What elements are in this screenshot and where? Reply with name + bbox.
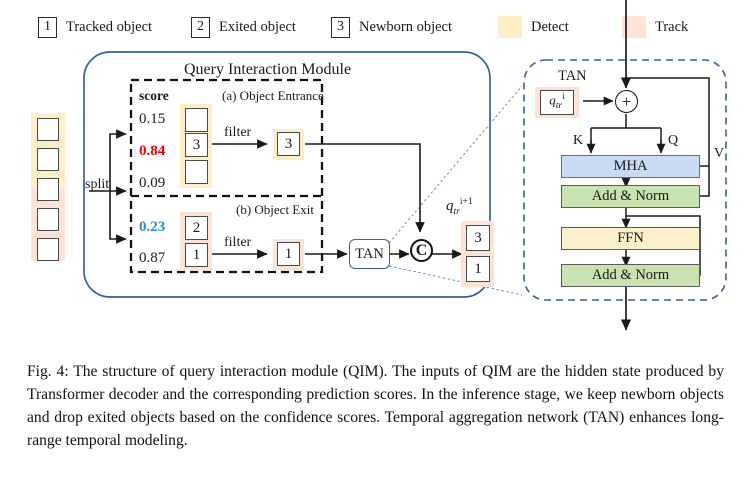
exit-score-0: 0.23 bbox=[139, 220, 165, 235]
entrance-score-1: 0.84 bbox=[139, 144, 165, 159]
input-query-box[interactable] bbox=[37, 208, 59, 231]
output-query-sup: i+1 bbox=[460, 197, 473, 207]
query-port-label: Q bbox=[668, 134, 678, 148]
entrance-score-0: 0.15 bbox=[139, 112, 165, 127]
split-label: split bbox=[85, 178, 109, 192]
qim-title: Query Interaction Module bbox=[184, 62, 351, 78]
entrance-query-box-1[interactable]: 3 bbox=[185, 133, 208, 157]
input-query-box[interactable] bbox=[37, 238, 59, 261]
tan-query-input-box[interactable]: qtri bbox=[540, 90, 574, 115]
entrance-query-box-0[interactable] bbox=[185, 108, 208, 132]
exit-query-box-1[interactable]: 1 bbox=[185, 243, 208, 267]
output-query-sub: tr bbox=[454, 207, 460, 217]
input-query-box[interactable] bbox=[37, 148, 59, 171]
tan-query-sup: i bbox=[562, 92, 565, 102]
split-arrow-down bbox=[110, 191, 126, 239]
figure-caption: Fig. 4: The structure of query interacti… bbox=[27, 361, 724, 453]
exit-query-box-0[interactable]: 2 bbox=[185, 216, 208, 240]
entrance-section-title: (a) Object Entrance bbox=[222, 89, 324, 102]
concat-circle: C bbox=[410, 239, 433, 262]
exit-output-box[interactable]: 1 bbox=[277, 242, 300, 266]
entrance-filter-label: filter bbox=[224, 126, 251, 140]
entrance-query-box-2[interactable] bbox=[185, 160, 208, 184]
exit-score-1: 0.87 bbox=[139, 251, 165, 266]
tan-query-sub: tr bbox=[556, 101, 562, 111]
entrance-score-2: 0.09 bbox=[139, 176, 165, 191]
mha-block[interactable]: MHA bbox=[561, 155, 700, 178]
addnorm2-block[interactable]: Add & Norm bbox=[561, 264, 700, 287]
input-query-box[interactable] bbox=[37, 118, 59, 141]
output-query-base: q bbox=[446, 198, 454, 214]
add-operator-circle: + bbox=[615, 90, 638, 113]
score-header: score bbox=[139, 89, 169, 103]
output-query-box-0[interactable]: 3 bbox=[466, 225, 490, 251]
value-port-label: V bbox=[714, 147, 724, 161]
tan-panel-title: TAN bbox=[558, 69, 587, 84]
split-arrow-up bbox=[110, 134, 126, 191]
output-query-box-1[interactable]: 1 bbox=[466, 256, 490, 282]
ffn-block[interactable]: FFN bbox=[561, 227, 700, 250]
input-query-box[interactable] bbox=[37, 178, 59, 201]
addnorm1-block[interactable]: Add & Norm bbox=[561, 185, 700, 208]
tan-module-box[interactable]: TAN bbox=[349, 239, 390, 269]
callout-line-top bbox=[389, 86, 522, 243]
exit-section-title: (b) Object Exit bbox=[236, 203, 314, 216]
output-query-label: qtri+1 bbox=[446, 197, 473, 217]
callout-line-bottom bbox=[389, 266, 522, 295]
figure-canvas: 1 Tracked object 2 Exited object 3 Newbo… bbox=[0, 0, 750, 486]
kq-split-lines bbox=[591, 114, 661, 150]
key-port-label: K bbox=[573, 134, 583, 148]
exit-filter-label: filter bbox=[224, 236, 251, 250]
entrance-output-box[interactable]: 3 bbox=[277, 132, 300, 156]
